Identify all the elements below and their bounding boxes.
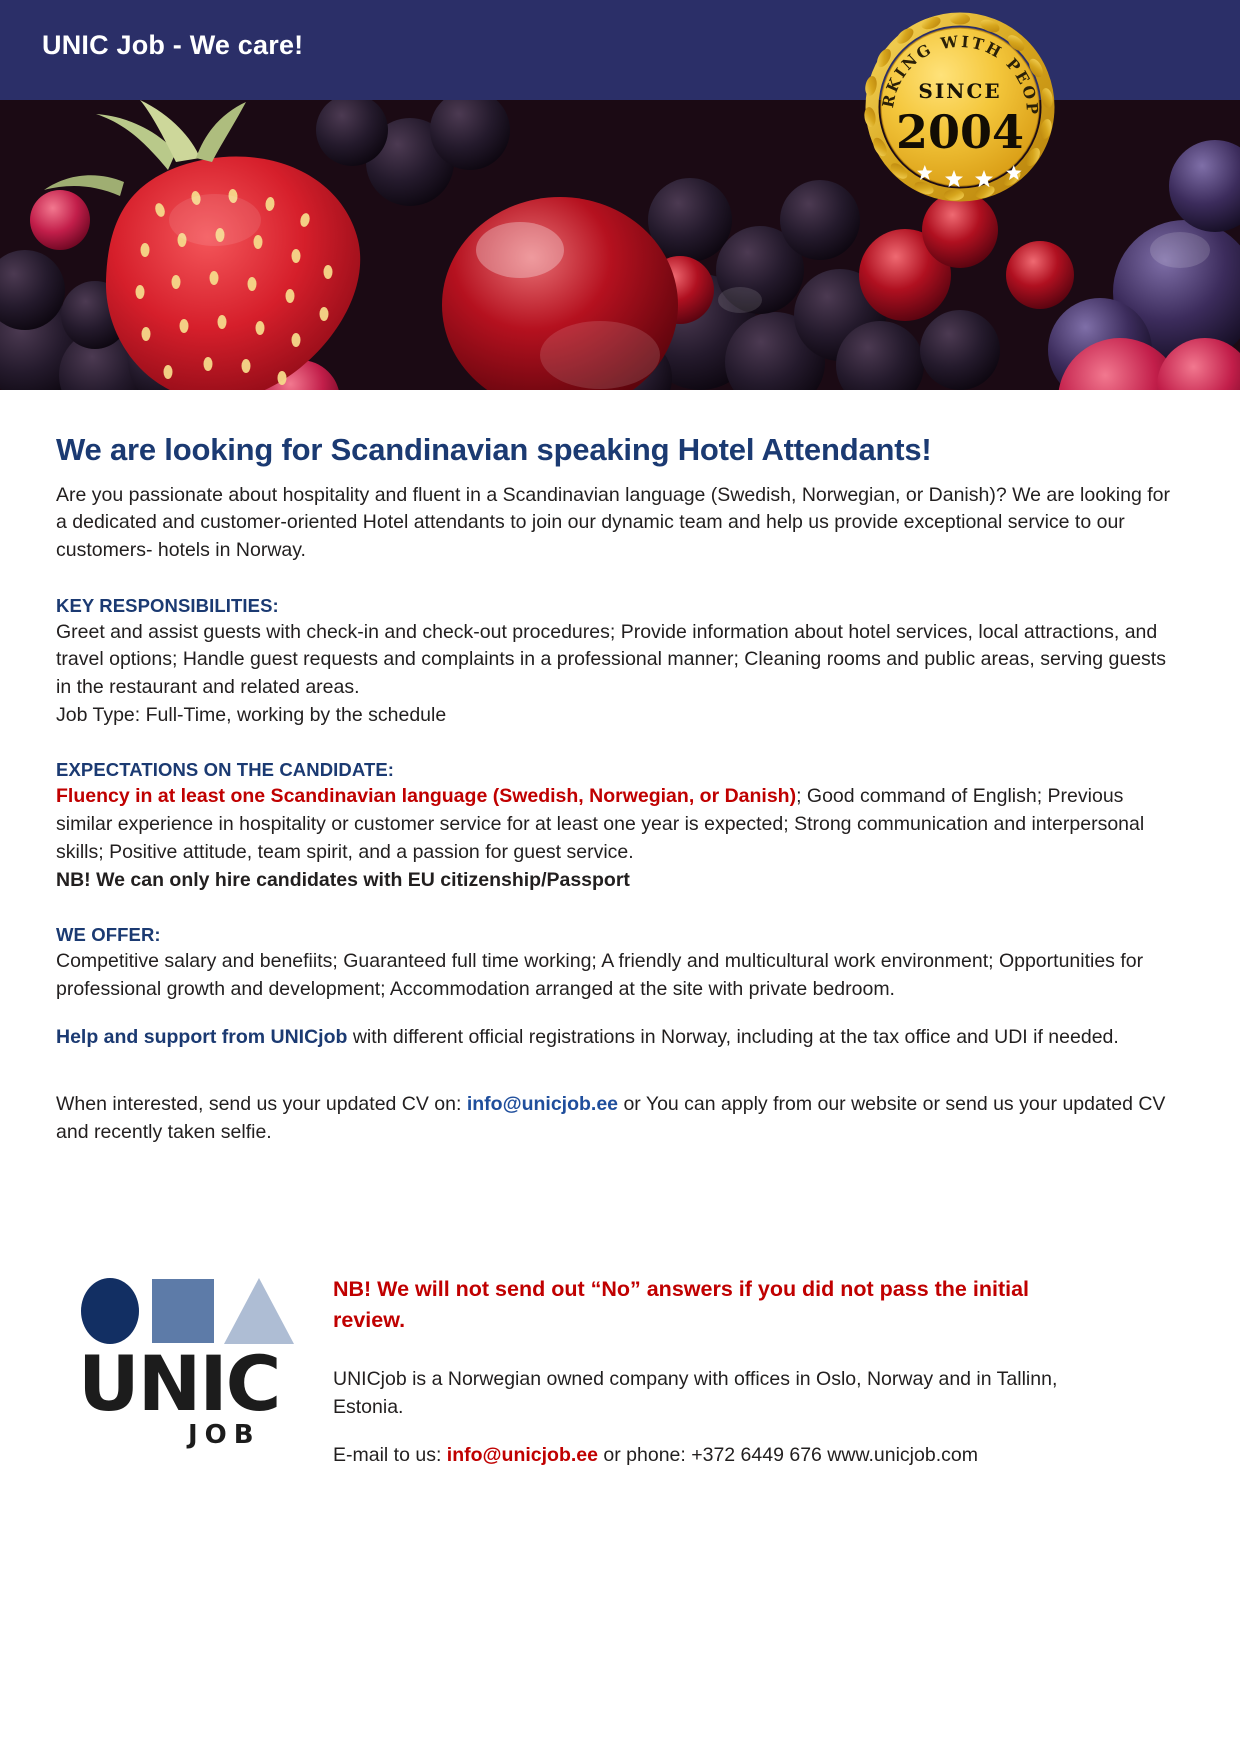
apply-email-link[interactable]: info@unicjob.ee (467, 1093, 618, 1115)
offer-heading: WE OFFER: (56, 924, 1184, 946)
company-about: UNICjob is a Norwegian owned company wit… (333, 1366, 1073, 1421)
fluency-requirement: Fluency in at least one Scandinavian lan… (56, 785, 796, 807)
responsibilities-section: KEY RESPONSIBILITIES: Greet and assist g… (56, 595, 1184, 730)
logo-triangle-shape (224, 1278, 294, 1344)
job-type-line: Job Type: Full-Time, working by the sche… (56, 702, 1184, 730)
unicjob-logo: UNIC JOB (78, 1278, 293, 1463)
responsibilities-body: Greet and assist guests with check-in an… (56, 619, 1184, 702)
logo-wordmark: UNIC (78, 1346, 279, 1422)
offer-body: Competitive salary and benefiits; Guaran… (56, 948, 1184, 1003)
job-posting-body: We are looking for Scandinavian speaking… (0, 390, 1240, 1147)
offer-section: WE OFFER: Competitive salary and benefii… (56, 924, 1184, 1003)
page-footer: UNIC JOB NB! We will not send out “No” a… (0, 1258, 1240, 1518)
eu-citizenship-notice: NB! We can only hire candidates with EU … (56, 867, 1184, 895)
logo-ellipse-shape (81, 1278, 139, 1344)
contact-lead: E-mail to us: (333, 1444, 447, 1466)
contact-email-link[interactable]: info@unicjob.ee (447, 1444, 598, 1466)
badge-year: 2004 (896, 105, 1024, 159)
responsibilities-heading: KEY RESPONSIBILITIES: (56, 595, 1184, 617)
expectations-heading: EXPECTATIONS ON THE CANDIDATE: (56, 759, 1184, 781)
expectations-section: EXPECTATIONS ON THE CANDIDATE: Fluency i… (56, 759, 1184, 894)
logo-square-shape (152, 1279, 214, 1343)
brand-title: UNIC Job - We care! (42, 30, 303, 61)
page-title: We are looking for Scandinavian speaking… (56, 432, 1184, 468)
since-2004-badge: WORKING WITH PEOPLE SINCE 2004 (855, 2, 1065, 212)
apply-paragraph: When interested, send us your updated CV… (56, 1091, 1184, 1146)
badge-since-label: SINCE (918, 79, 1001, 103)
support-paragraph: Help and support from UNICjob with diffe… (56, 1024, 1184, 1052)
no-answer-notice: NB! We will not send out “No” answers if… (333, 1274, 1073, 1336)
footer-text-column: NB! We will not send out “No” answers if… (333, 1274, 1073, 1469)
contact-rest: or phone: +372 6449 676 www.unicjob.com (598, 1444, 978, 1466)
support-lead: Help and support from UNICjob (56, 1026, 347, 1048)
intro-paragraph: Are you passionate about hospitality and… (56, 482, 1184, 565)
badge-graphic: WORKING WITH PEOPLE SINCE 2004 (855, 2, 1065, 212)
apply-lead: When interested, send us your updated CV… (56, 1093, 467, 1115)
support-rest: with different official registrations in… (347, 1026, 1118, 1048)
logo-subword: JOB (188, 1422, 261, 1448)
expectations-body: Fluency in at least one Scandinavian lan… (56, 783, 1184, 866)
contact-line: E-mail to us: info@unicjob.ee or phone: … (333, 1442, 1073, 1470)
